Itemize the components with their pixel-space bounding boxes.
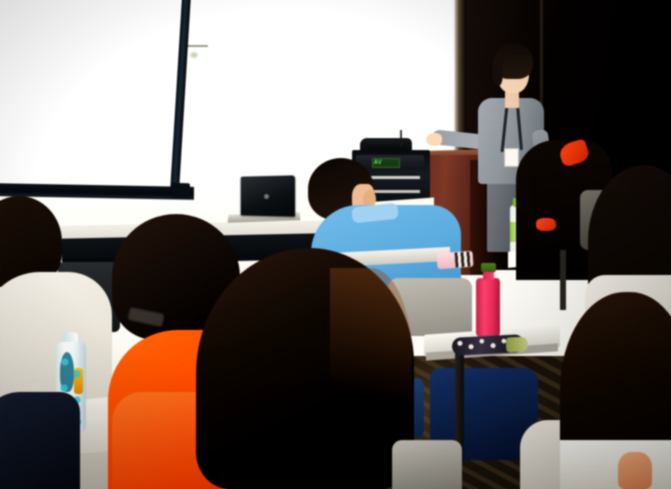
av-display-text: AV xyxy=(374,158,398,167)
presenter-name-badge xyxy=(504,148,519,167)
desk-bottom-right xyxy=(560,440,671,489)
foreground-hair-highlight xyxy=(330,268,412,448)
pink-drink-bottle xyxy=(476,278,500,338)
phone-strap xyxy=(454,251,471,267)
photograph: AV xyxy=(0,0,671,489)
screen-marking xyxy=(186,45,208,47)
laptop-logo xyxy=(264,194,269,199)
attendee-hand xyxy=(618,452,652,489)
pouch-green-end xyxy=(506,336,529,352)
projection-screen-surface xyxy=(0,0,196,196)
screen-green-spot xyxy=(190,52,198,58)
attendee-front-left-dark-shoulder xyxy=(0,392,80,489)
curtain-streaks xyxy=(540,0,671,150)
presenter-hair-side xyxy=(492,56,503,86)
chair-leg xyxy=(560,250,566,310)
projection-screen-frame-corner xyxy=(172,183,190,199)
av-cables xyxy=(400,130,426,146)
presenter-left-hand xyxy=(426,133,442,146)
red-accessory xyxy=(536,218,556,231)
attendee-orange-sleeve xyxy=(112,392,208,489)
seminar-chair xyxy=(392,440,462,489)
presenter-neck xyxy=(505,92,519,108)
pink-drink-bottle-cap xyxy=(481,263,496,272)
